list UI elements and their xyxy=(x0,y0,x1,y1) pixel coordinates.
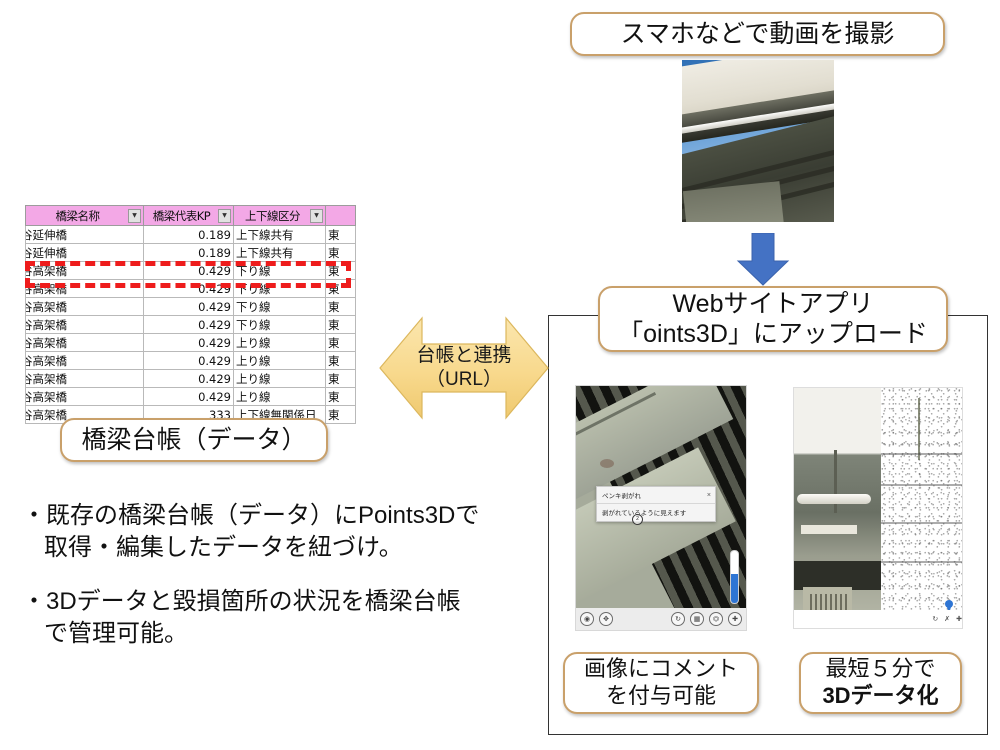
caption-capture-label: スマホなどで動画を撮影 xyxy=(621,19,895,50)
filter-dropdown-icon[interactable]: ▼ xyxy=(128,209,141,223)
table-row[interactable]: 谷高架橋0.429下り線東 xyxy=(26,298,356,316)
column-header-line-division[interactable]: 上下線区分 ▼ xyxy=(234,206,326,226)
link-arrow: 台帳と連携 （URL） xyxy=(378,312,550,424)
caption-comment-line2: を付与可能 xyxy=(606,683,716,710)
filter-dropdown-icon[interactable]: ▼ xyxy=(310,209,323,223)
caption-webapp-line1: Webサイトアプリ xyxy=(673,289,874,320)
cell-bridge-kp: 0.189 xyxy=(144,244,234,262)
table-header-row: 橋梁名称 ▼ 橋梁代表KP ▼ 上下線区分 ▼ xyxy=(26,206,356,226)
photo-dark-band xyxy=(794,561,881,590)
cell-bridge-name: 谷高架橋 xyxy=(26,316,144,334)
comment-popup[interactable]: ペンキ剥がれ × 剥がれているように見えます xyxy=(596,486,716,522)
column-header-bridge-name[interactable]: 橋梁名称 ▼ xyxy=(26,206,144,226)
caption-3d-line1: 最短５分で xyxy=(825,656,935,683)
comment-popup-body: 剥がれているように見えます xyxy=(597,504,715,521)
bullet-1-line2: 取得・編集したデータを紐づけ。 xyxy=(22,532,522,564)
grid-icon[interactable]: ▦ xyxy=(690,612,704,626)
slide-canvas: スマホなどで動画を撮影 Webサイトアプリ 「oints3D」にアップロード ペ… xyxy=(0,0,1000,750)
hide-icon[interactable]: ⏣ xyxy=(709,612,723,626)
cell-extra: 東 xyxy=(326,406,356,424)
viewer-paint-stain xyxy=(600,459,614,468)
move-icon[interactable]: ✚ xyxy=(956,615,962,623)
cell-line-division: 上り線 xyxy=(234,370,326,388)
pointcloud-screenshot[interactable]: ◉ ✥ ↻ ✗ ✚ xyxy=(793,387,963,629)
table-row[interactable]: 谷延伸橋0.189上下線共有東 xyxy=(26,226,356,244)
caption-webapp-line2: 「oints3D」にアップロード xyxy=(618,319,928,350)
photo-plate xyxy=(801,525,857,534)
cell-extra: 東 xyxy=(326,244,356,262)
cell-bridge-kp: 0.429 xyxy=(144,334,234,352)
filter-dropdown-icon[interactable]: ▼ xyxy=(218,209,231,223)
cell-line-division: 上り線 xyxy=(234,388,326,406)
cell-bridge-name: 谷高架橋 xyxy=(26,370,144,388)
table-row[interactable]: 谷高架橋0.429上り線東 xyxy=(26,388,356,406)
pointcloud-points-half xyxy=(881,388,962,628)
record-icon[interactable]: ◉ xyxy=(580,612,594,626)
cell-bridge-name: 谷高架橋 xyxy=(26,352,144,370)
column-header-label: 橋梁名称 xyxy=(26,208,143,224)
pointcloud-toolbar: ↻ ✗ ✚ xyxy=(794,610,963,628)
pointcloud-band xyxy=(881,453,962,455)
cell-extra: 東 xyxy=(326,298,356,316)
caption-webapp-upload: Webサイトアプリ 「oints3D」にアップロード xyxy=(598,286,948,352)
move-icon[interactable]: ✚ xyxy=(728,612,742,626)
caption-3d-conversion: 最短５分で 3Dデータ化 xyxy=(799,652,962,714)
bridge-ledger-table[interactable]: 橋梁名称 ▼ 橋梁代表KP ▼ 上下線区分 ▼ 谷延伸橋0.189上下線共有東谷… xyxy=(25,205,356,424)
rotate-icon[interactable]: ↻ xyxy=(671,612,685,626)
bullet-2-line2: で管理可能。 xyxy=(22,618,522,650)
comment-marker[interactable]: 2 xyxy=(632,514,643,525)
cell-bridge-kp: 0.189 xyxy=(144,226,234,244)
caption-ledger-label: 橋梁台帳（データ） xyxy=(81,425,306,456)
bullet-item-1: ・既存の橋梁台帳（データ）にPoints3Dで 取得・編集したデータを紐づけ。 xyxy=(22,500,522,564)
cell-bridge-name: 谷延伸橋 xyxy=(26,226,144,244)
cell-line-division: 上り線 xyxy=(234,352,326,370)
table-row[interactable]: 谷延伸橋0.189上下線共有東 xyxy=(26,244,356,262)
app-viewer-screenshot[interactable]: ペンキ剥がれ × 剥がれているように見えます 2 ◉ ✥ ↻ ▦ ⏣ ✚ xyxy=(575,385,747,631)
pointcloud-band xyxy=(881,522,962,524)
bullet-list: ・既存の橋梁台帳（データ）にPoints3Dで 取得・編集したデータを紐づけ。 … xyxy=(22,500,522,673)
caption-3d-line2: 3Dデータ化 xyxy=(822,683,938,710)
cell-bridge-name: 谷高架橋 xyxy=(26,388,144,406)
bullet-item-2: ・3Dデータと毀損箇所の状況を橋梁台帳 で管理可能。 xyxy=(22,586,522,650)
double-arrow-icon xyxy=(378,312,550,424)
cell-line-division: 上下線共有 xyxy=(234,244,326,262)
pointcloud-photo-half xyxy=(794,388,881,628)
cell-bridge-name: 谷高架橋 xyxy=(26,334,144,352)
table-body: 谷延伸橋0.189上下線共有東谷延伸橋0.189上下線共有東谷高架橋0.429下… xyxy=(26,226,356,424)
cell-extra: 東 xyxy=(326,334,356,352)
measure-icon[interactable]: ✗ xyxy=(944,615,950,623)
caption-bridge-ledger: 橋梁台帳（データ） xyxy=(60,418,328,462)
caption-comment-line1: 画像にコメント xyxy=(584,656,738,683)
pointcloud-band xyxy=(881,484,962,486)
down-arrow-icon xyxy=(735,233,791,287)
column-header-bridge-kp[interactable]: 橋梁代表KP ▼ xyxy=(144,206,234,226)
cell-bridge-kp: 0.429 xyxy=(144,352,234,370)
bridge-photo xyxy=(682,60,834,222)
bullet-2-line1: ・3Dデータと毀損箇所の状況を橋梁台帳 xyxy=(22,588,461,615)
cell-extra: 東 xyxy=(326,352,356,370)
bullet-1-line1: ・既存の橋梁台帳（データ）にPoints3Dで xyxy=(22,502,479,529)
comment-popup-header: ペンキ剥がれ × xyxy=(597,487,715,504)
cell-bridge-kp: 0.429 xyxy=(144,298,234,316)
table-row[interactable]: 谷高架橋0.429上り線東 xyxy=(26,334,356,352)
rotate-icon[interactable]: ↻ xyxy=(932,615,938,623)
cell-extra: 東 xyxy=(326,226,356,244)
caption-capture-video: スマホなどで動画を撮影 xyxy=(570,12,945,56)
table-row[interactable]: 谷高架橋0.429上り線東 xyxy=(26,352,356,370)
cell-line-division: 上り線 xyxy=(234,334,326,352)
pointcloud-rod xyxy=(918,398,920,460)
cell-extra: 東 xyxy=(326,370,356,388)
cell-bridge-kp: 0.429 xyxy=(144,370,234,388)
cell-bridge-name: 谷高架橋 xyxy=(26,298,144,316)
table-row[interactable]: 谷高架橋0.429上り線東 xyxy=(26,370,356,388)
cell-bridge-kp: 0.429 xyxy=(144,316,234,334)
viewer-toolbar: ◉ ✥ ↻ ▦ ⏣ ✚ xyxy=(576,608,746,630)
cell-line-division: 下り線 xyxy=(234,316,326,334)
highlight-box xyxy=(25,261,351,288)
zoom-slider[interactable] xyxy=(730,550,739,604)
cell-line-division: 下り線 xyxy=(234,298,326,316)
cell-line-division: 上下線共有 xyxy=(234,226,326,244)
column-header-extra[interactable] xyxy=(326,206,356,226)
pointcloud-noise xyxy=(881,388,962,628)
comment-popup-title: ペンキ剥がれ xyxy=(602,490,641,500)
close-icon[interactable]: × xyxy=(707,492,711,499)
cell-bridge-kp: 0.429 xyxy=(144,388,234,406)
cell-bridge-name: 谷延伸橋 xyxy=(26,244,144,262)
pointcloud-marker[interactable] xyxy=(945,600,953,608)
cell-extra: 東 xyxy=(326,316,356,334)
cell-extra: 東 xyxy=(326,388,356,406)
photo-pipe xyxy=(797,494,870,504)
caption-add-comment: 画像にコメント を付与可能 xyxy=(563,652,759,714)
pointcloud-band xyxy=(881,561,962,563)
fullscreen-icon[interactable]: ✥ xyxy=(599,612,613,626)
table-row[interactable]: 谷高架橋0.429下り線東 xyxy=(26,316,356,334)
